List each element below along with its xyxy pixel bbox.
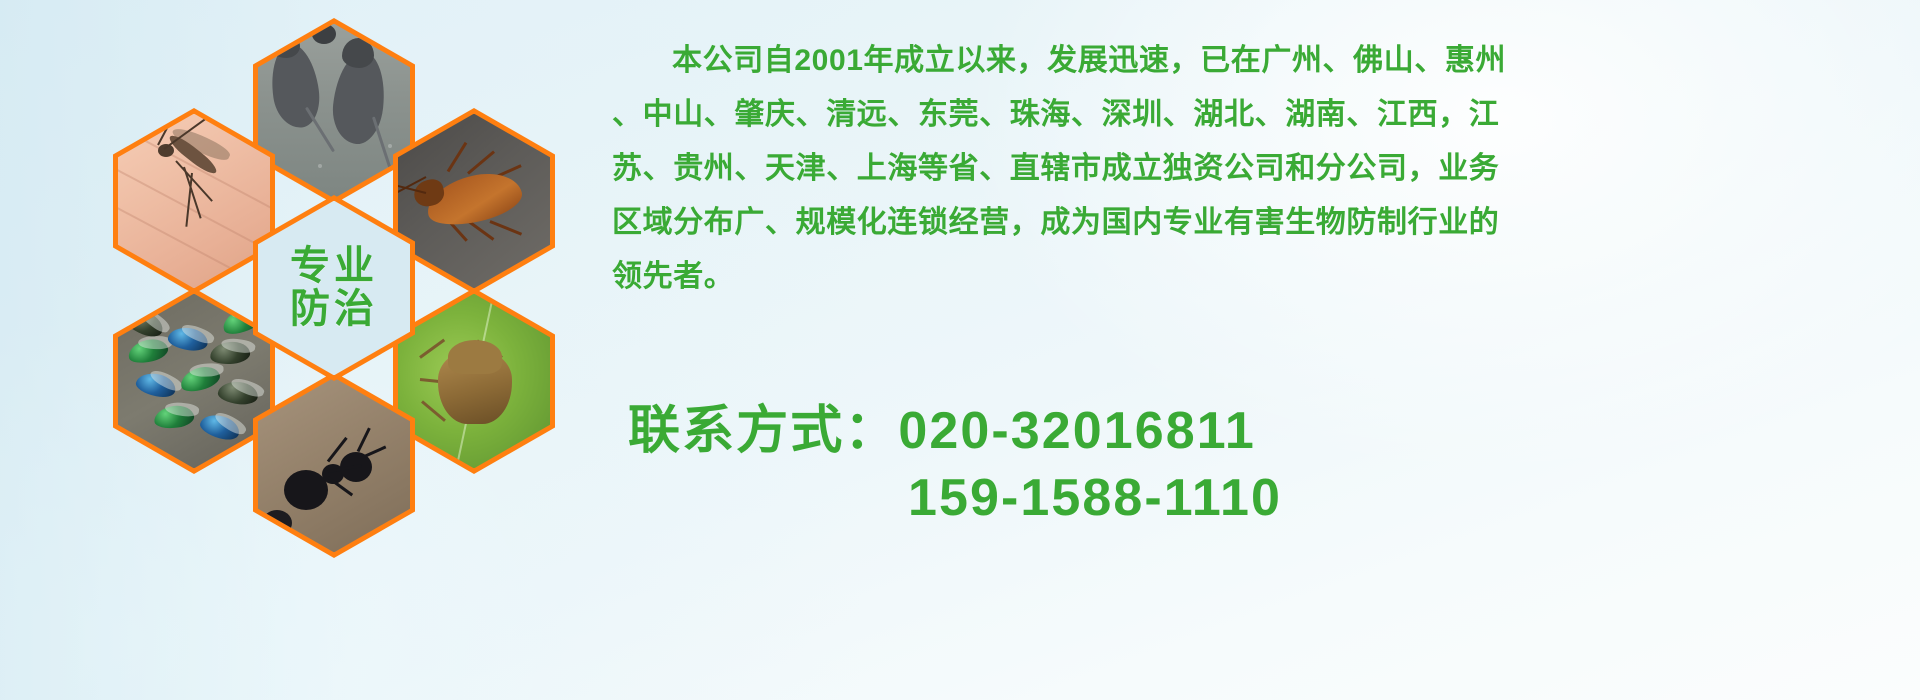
hex-cell-ant (253, 372, 415, 558)
hex-cell-mosquito (113, 108, 275, 294)
description-line-5: 领先者。 (612, 254, 1892, 299)
hex-cell-rats (253, 18, 415, 204)
contact-line-primary[interactable]: 联系方式：020-32016811 (628, 398, 1908, 465)
stink-bug-photo (398, 294, 550, 469)
rats-photo (258, 24, 410, 199)
hex-cell-logo: 专业 防治 (253, 195, 415, 381)
description-line-4: 区域分布广、规模化连锁经营，成为国内专业有害生物防制行业的 (612, 200, 1892, 245)
logo-line-1: 专业 (290, 245, 378, 288)
hex-cell-flies (113, 288, 275, 474)
description-line-2: 、中山、肇庆、清远、东莞、珠海、深圳、湖北、湖南、江西，江 (612, 92, 1892, 137)
logo-text: 专业 防治 (290, 245, 378, 331)
contact-block: 联系方式：020-32016811 159-1588-1110 (628, 398, 1908, 531)
hex-collage: 专业 防治 (85, 10, 585, 570)
mosquito-photo (118, 114, 270, 289)
hex-cell-stink-bug (393, 288, 555, 474)
pest-control-banner: 专业 防治 本公司自2001年成立以来，发展迅速，已在广州、佛山、惠州 、中山、… (0, 0, 1920, 700)
contact-line-secondary[interactable]: 159-1588-1110 (628, 465, 1908, 532)
hex-cell-cockroach (393, 108, 555, 294)
description-line-3: 苏、贵州、天津、上海等省、直辖市成立独资公司和分公司，业务 (612, 146, 1892, 191)
cockroach-photo (398, 114, 550, 289)
company-description: 本公司自2001年成立以来，发展迅速，已在广州、佛山、惠州 、中山、肇庆、清远、… (612, 38, 1892, 308)
ant-photo (258, 378, 410, 553)
description-line-1: 本公司自2001年成立以来，发展迅速，已在广州、佛山、惠州 (612, 38, 1892, 83)
logo-line-2: 防治 (290, 288, 378, 331)
flies-photo (118, 294, 270, 469)
